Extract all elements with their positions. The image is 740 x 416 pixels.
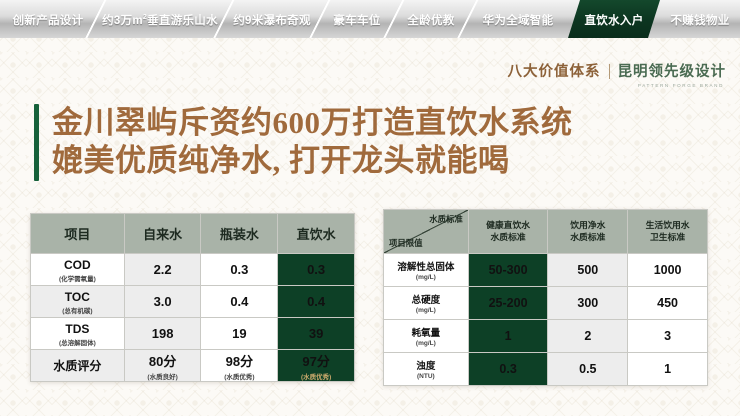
water-comparison-table: 项目自来水瓶装水直饮水 COD(化学需氧量)2.20.30.3TOC(总有机碳)…: [30, 213, 355, 382]
table-cell: 1000: [628, 254, 708, 287]
table-cell: 0.3: [278, 254, 355, 286]
tab-5[interactable]: 全龄优教: [394, 0, 468, 38]
row-label: 总硬度(mg/L): [384, 287, 469, 320]
brand-lockup: 八大价值体系 昆明领先级设计 PATTERN FORGE BRAND: [508, 60, 727, 88]
brand-design-text: 昆明领先级设计: [618, 60, 727, 81]
table-cell: 3: [628, 320, 708, 353]
tab-label: 约9米瀑布奇观: [233, 12, 311, 28]
table-cell: 2: [548, 320, 628, 353]
brand-divider: [609, 64, 610, 79]
table-cell: 1: [468, 320, 548, 353]
table-row: TDS(总溶解固体)1981939: [31, 318, 355, 350]
table-header-row: 项目自来水瓶装水直饮水: [31, 214, 355, 254]
table-cell: 0.4: [201, 286, 278, 318]
column-header: 瓶装水: [201, 214, 278, 254]
table-cell: 0.3: [468, 353, 548, 386]
water-standards-table: 水质标准项目限值健康直饮水水质标准饮用净水水质标准生活饮用水卫生标准 溶解性总固…: [383, 209, 708, 386]
row-label: 耗氧量(mg/L): [384, 320, 469, 353]
table-row: TOC(总有机碳)3.00.40.4: [31, 286, 355, 318]
headline-block: 金川翠屿斥资约600万打造直饮水系统 媲美优质纯净水, 打开龙头就能喝: [34, 104, 573, 181]
corner-top-label: 水质标准: [429, 214, 463, 225]
table-cell: 39: [278, 318, 355, 350]
table-cell: 500: [548, 254, 628, 287]
brand-english-subtext: PATTERN FORGE BRAND: [508, 83, 725, 88]
column-header: 项目: [31, 214, 125, 254]
row-label: TOC(总有机碳): [31, 286, 125, 318]
tab-label: 不赚钱物业: [671, 12, 730, 28]
top-tab-bar: 创新产品设计约3万m2垂直游乐山水约9米瀑布奇观豪车车位全龄优教华为全域智能直饮…: [0, 0, 740, 38]
table-header-row: 水质标准项目限值健康直饮水水质标准饮用净水水质标准生活饮用水卫生标准: [384, 210, 708, 254]
table-cell: 0.4: [278, 286, 355, 318]
tab-6[interactable]: 华为全域智能: [468, 0, 568, 38]
tab-2[interactable]: 约3万m2垂直游乐山水: [96, 0, 224, 38]
row-label: TDS(总溶解固体): [31, 318, 125, 350]
table-row: 总硬度(mg/L)25-200300450: [384, 287, 708, 320]
column-header: 自来水: [124, 214, 201, 254]
table-body: 溶解性总固体(mg/L)50-3005001000总硬度(mg/L)25-200…: [384, 254, 708, 386]
table-cell: 25-200: [468, 287, 548, 320]
table-cell: 98分(水质优秀): [201, 350, 278, 382]
table-row: 耗氧量(mg/L)123: [384, 320, 708, 353]
column-header: 直饮水: [278, 214, 355, 254]
tab-label: 约3万m2垂直游乐山水: [102, 12, 218, 28]
corner-header-cell: 水质标准项目限值: [384, 210, 469, 254]
table-cell: 80分(水质良好): [124, 350, 201, 382]
table-row: 浊度(NTU)0.30.51: [384, 353, 708, 386]
column-header: 饮用净水水质标准: [548, 210, 628, 254]
tab-1[interactable]: 创新产品设计: [0, 0, 96, 38]
table-cell: 97分(水质优秀): [278, 350, 355, 382]
tab-4[interactable]: 豪车车位: [320, 0, 394, 38]
table-cell: 450: [628, 287, 708, 320]
row-label: COD(化学需氧量): [31, 254, 125, 286]
table-cell: 2.2: [124, 254, 201, 286]
brand-value-system-text: 八大价值体系: [508, 60, 601, 81]
tab-label: 创新产品设计: [13, 12, 84, 28]
column-header: 生活饮用水卫生标准: [628, 210, 708, 254]
table-cell: 19: [201, 318, 278, 350]
tab-label: 华为全域智能: [483, 12, 554, 28]
table-row: 溶解性总固体(mg/L)50-3005001000: [384, 254, 708, 287]
row-label: 溶解性总固体(mg/L): [384, 254, 469, 287]
tab-3[interactable]: 约9米瀑布奇观: [224, 0, 320, 38]
table-cell: 1: [628, 353, 708, 386]
tab-label: 全龄优教: [407, 12, 454, 28]
table-body: COD(化学需氧量)2.20.30.3TOC(总有机碳)3.00.40.4TDS…: [31, 254, 355, 382]
table-cell: 300: [548, 287, 628, 320]
tab-label: 直饮水入户: [585, 12, 644, 28]
tab-8[interactable]: 不赚钱物业: [660, 0, 740, 38]
headline-accent-bar: [34, 104, 39, 181]
table-cell: 0.5: [548, 353, 628, 386]
table-cell: 0.3: [201, 254, 278, 286]
row-label: 水质评分: [31, 350, 125, 382]
column-header: 健康直饮水水质标准: [468, 210, 548, 254]
table-cell: 50-300: [468, 254, 548, 287]
table-cell: 198: [124, 318, 201, 350]
row-label: 浊度(NTU): [384, 353, 469, 386]
headline-line-1: 金川翠屿斥资约600万打造直饮水系统: [52, 104, 573, 142]
table-row: 水质评分80分(水质良好)98分(水质优秀)97分(水质优秀): [31, 350, 355, 382]
table-cell: 3.0: [124, 286, 201, 318]
table-row: COD(化学需氧量)2.20.30.3: [31, 254, 355, 286]
tab-label: 豪车车位: [333, 12, 380, 28]
tab-7[interactable]: 直饮水入户: [568, 0, 660, 38]
corner-bottom-label: 项目限值: [389, 238, 423, 249]
headline-line-2: 媲美优质纯净水, 打开龙头就能喝: [52, 142, 573, 180]
